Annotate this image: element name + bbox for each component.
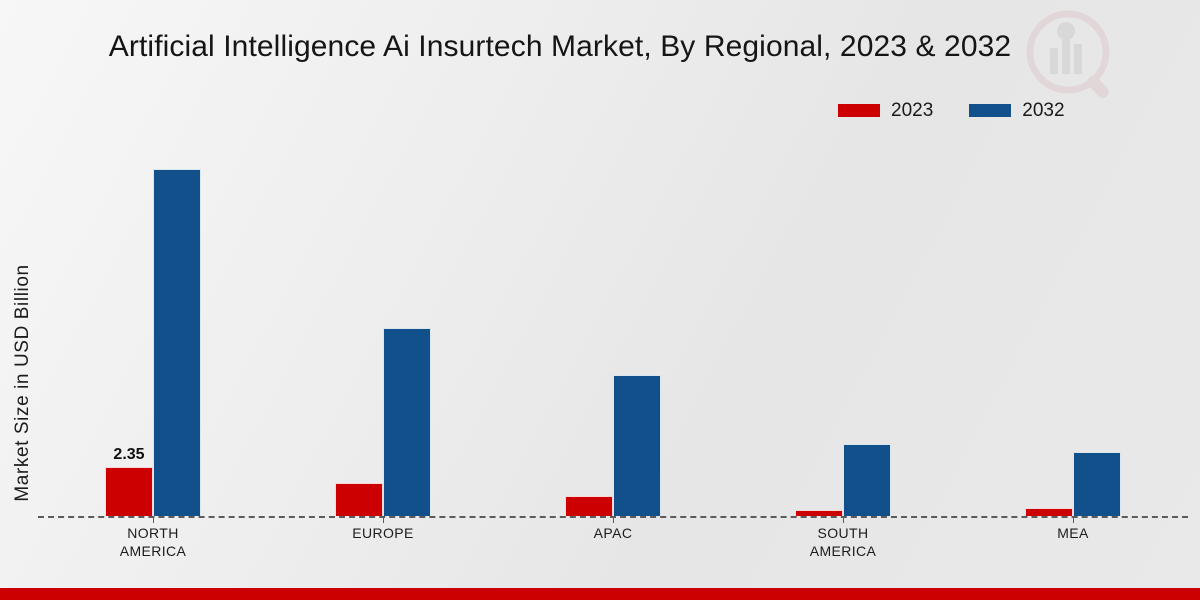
x-axis-category-label: APAC [594,525,633,543]
bar-rect[interactable] [105,467,153,516]
chart-legend: 2023 2032 [838,101,1065,120]
legend-swatch-2023 [838,104,880,117]
footer-accent-bar [0,588,1200,600]
legend-item-2023[interactable]: 2023 [838,101,933,120]
x-axis-category-label: MEA [1057,525,1089,543]
bar-2032[interactable] [613,375,661,516]
bar-groups: 2.35NORTH AMERICAEUROPEAPACSOUTH AMERICA… [38,140,1188,516]
bar-rect[interactable] [335,483,383,516]
bar-rect[interactable] [153,169,201,516]
x-axis-baseline [38,516,1188,518]
bar-rect[interactable] [1025,508,1073,516]
bar-rect[interactable] [613,375,661,516]
chart-page: Artificial Intelligence Ai Insurtech Mar… [0,0,1200,600]
bar-group: 2.35NORTH AMERICA [38,140,268,516]
bar-value-label: 2.35 [113,446,144,464]
bar-rect[interactable] [565,496,613,516]
y-axis-title: Market Size in USD Billion [12,203,34,563]
legend-label-2023: 2023 [891,101,933,120]
bar-group: MEA [958,140,1188,516]
bar-2023[interactable]: 2.35 [105,467,153,516]
bar-group: EUROPE [268,140,498,516]
bar-rect[interactable] [383,328,431,516]
x-axis-category-label: SOUTH AMERICA [810,525,877,561]
plot-area: 2.35NORTH AMERICAEUROPEAPACSOUTH AMERICA… [38,140,1188,518]
bar-rect[interactable] [843,444,891,516]
bar-group: SOUTH AMERICA [728,140,958,516]
x-axis-category-label: EUROPE [352,525,414,543]
bar-2023[interactable] [335,483,383,516]
legend-label-2032: 2032 [1022,101,1064,120]
legend-swatch-2032 [969,104,1011,117]
x-axis-category-label: NORTH AMERICA [120,525,187,561]
bar-rect[interactable] [1073,452,1121,516]
bar-group: APAC [498,140,728,516]
bar-2032[interactable] [1073,452,1121,516]
legend-item-2032[interactable]: 2032 [969,101,1064,120]
bar-2032[interactable] [153,169,201,516]
bar-2023[interactable] [565,496,613,516]
bar-2032[interactable] [843,444,891,516]
bar-2032[interactable] [383,328,431,516]
bar-2023[interactable] [1025,508,1073,516]
page-title: Artificial Intelligence Ai Insurtech Mar… [0,30,1120,64]
